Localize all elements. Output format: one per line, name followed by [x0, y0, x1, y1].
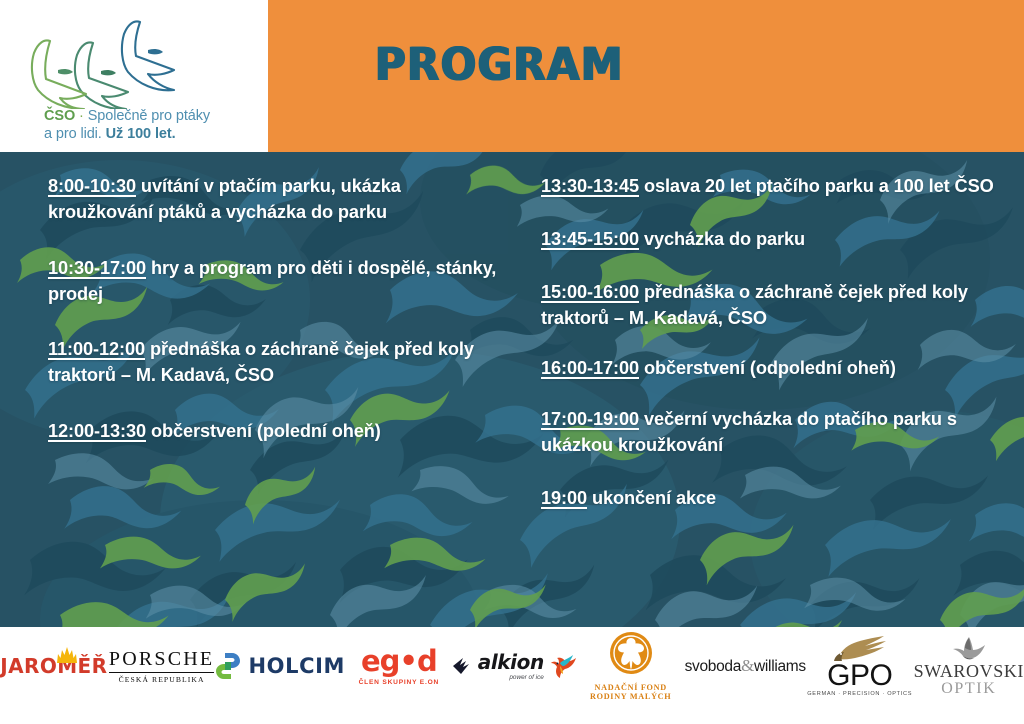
swarovski-hawk-icon: [949, 635, 989, 661]
program-item: 13:30-13:45 oslava 20 let ptačího parku …: [541, 174, 1001, 200]
program-item-time: 17:00-19:00: [541, 409, 639, 429]
gpo-subtitle: GERMAN · PRECISION · OPTICS: [807, 691, 912, 697]
program-item: 12:00-13:30 občerstvení (polední oheň): [48, 419, 508, 445]
cso-logo-tagline-1: Společně pro ptáky: [88, 108, 210, 124]
title-band: PROGRAM: [268, 0, 1024, 152]
sponsor-logo-jaromer: JAROMĚŘ: [0, 627, 108, 705]
program-item: 16:00-17:00 občerstvení (odpolední oheň): [541, 356, 1001, 382]
holcim-name: HOLCIM: [248, 654, 345, 678]
program-item-time: 10:30-17:00: [48, 258, 146, 278]
program-item-desc: vycházka do parku: [639, 229, 805, 249]
jaromer-text-1: JARO: [0, 654, 57, 678]
cso-logo-abbrev: ČSO: [44, 108, 75, 124]
sponsor-logo-egd: eg•d ČLEN SKUPINY E.ON: [345, 627, 453, 705]
program-item-desc: občerstvení (polední oheň): [146, 421, 381, 441]
program-item-time: 12:00-13:30: [48, 421, 146, 441]
program-item-desc: ukončení akce: [587, 488, 716, 508]
egd-name: eg•d: [359, 647, 440, 676]
porsche-wordmark: PORSCHE ČESKÁ REPUBLIKA: [109, 648, 214, 684]
program-item-time: 15:00-16:00: [541, 282, 639, 302]
nadacni-fond-line1: NADAČNÍ FOND: [590, 683, 671, 692]
swarovski-optik: OPTIK: [914, 681, 1024, 698]
program-item: 17:00-19:00 večerní vycházka do ptačího …: [541, 407, 1001, 459]
sponsor-logo-svoboda-williams: svoboda&williams: [685, 627, 806, 705]
program-item-time: 8:00-10:30: [48, 176, 136, 196]
program-item-time: 19:00: [541, 488, 587, 508]
program-item: 13:45-15:00 vycházka do parku: [541, 227, 1001, 253]
sponsor-logo-strip: JAROMĚŘ PORSCHE ČESKÁ REPUBLIKA: [0, 627, 1024, 705]
alkion-arrow-icon: [453, 657, 475, 675]
cso-logo-anniversary: Už 100 let.: [106, 126, 176, 142]
program-item-time: 13:30-13:45: [541, 176, 639, 196]
program-item: 15:00-16:00 přednáška o záchraně čejek p…: [541, 280, 1001, 332]
jaromer-text-3: ĚŘ: [78, 654, 108, 678]
page-title: PROGRAM: [375, 38, 624, 91]
nadacni-fond-lockup: NADAČNÍ FOND RODINY MALÝCH: [590, 631, 671, 701]
jaromer-flame-icon: [56, 647, 78, 667]
program-poster: ČSO · Společně pro ptáky a pro lidi. Už …: [0, 0, 1024, 724]
program-item-time: 13:45-15:00: [541, 229, 639, 249]
program-item: 10:30-17:00 hry a program pro děti i dos…: [48, 256, 508, 308]
alkion-tagline: power of ice: [478, 674, 544, 681]
cso-three-birds-logo-icon: [24, 14, 204, 109]
jaromer-wordmark: JAROMĚŘ: [0, 654, 107, 678]
program-item-time: 16:00-17:00: [541, 358, 639, 378]
egd-subtitle: ČLEN SKUPINY E.ON: [359, 679, 440, 686]
nadacni-fond-mark-icon: [609, 631, 653, 675]
svoboda-ampersand: &: [741, 656, 754, 675]
egd-wordmark: eg•d ČLEN SKUPINY E.ON: [359, 647, 440, 686]
svoboda-text-1: svoboda: [685, 658, 742, 675]
cso-logo-tagline-2: a pro lidi.: [44, 126, 106, 142]
cso-logo-separator: ·: [75, 108, 88, 124]
sponsor-logo-nadacni-fond: NADAČNÍ FOND RODINY MALÝCH: [577, 627, 685, 705]
sponsor-footer: JAROMĚŘ PORSCHE ČESKÁ REPUBLIKA: [0, 627, 1024, 724]
cso-logo-box: ČSO · Společně pro ptáky a pro lidi. Už …: [0, 0, 268, 152]
porsche-name: PORSCHE: [109, 648, 214, 673]
gpo-name: GPO: [807, 661, 912, 690]
holcim-mark-icon: [215, 652, 241, 680]
svoboda-text-2: williams: [754, 658, 806, 675]
alkion-name: alkion: [478, 652, 544, 672]
sponsor-logo-swarovski-optik: SWAROVSKI OPTIK: [914, 627, 1024, 705]
swarovski-name: SWAROVSKI: [914, 662, 1024, 681]
program-item: 11:00-12:00 přednáška o záchraně čejek p…: [48, 337, 508, 389]
program-item-desc: oslava 20 let ptačího parku a 100 let ČS…: [639, 176, 994, 196]
program-item: 19:00 ukončení akce: [541, 486, 1001, 512]
poster-header: ČSO · Společně pro ptáky a pro lidi. Už …: [0, 0, 1024, 152]
nadacni-fond-line2: RODINY MALÝCH: [590, 692, 671, 701]
program-item-time: 11:00-12:00: [48, 339, 145, 359]
porsche-subtitle: ČESKÁ REPUBLIKA: [109, 675, 214, 684]
sponsor-logo-gpo: GPO GERMAN · PRECISION · OPTICS: [806, 627, 914, 705]
sponsor-logo-alkion: alkion power of ice: [453, 627, 577, 705]
program-item-desc: občerstvení (odpolední oheň): [639, 358, 896, 378]
swarovski-optik-lockup: SWAROVSKI OPTIK: [914, 635, 1024, 698]
program-column-right: 13:30-13:45 oslava 20 let ptačího parku …: [541, 152, 1001, 536]
program-schedule: 8:00-10:30 uvítání v ptačím parku, ukázk…: [0, 152, 1024, 627]
program-item: 8:00-10:30 uvítání v ptačím parku, ukázk…: [48, 174, 508, 226]
holcim-lockup: HOLCIM: [215, 652, 345, 680]
sponsor-logo-holcim: HOLCIM: [215, 627, 345, 705]
cso-logo-wordmark: ČSO · Společně pro ptáky a pro lidi. Už …: [44, 108, 274, 143]
gpo-lockup: GPO GERMAN · PRECISION · OPTICS: [807, 635, 912, 697]
alkion-kingfisher-icon: [547, 652, 577, 680]
svoboda-williams-wordmark: svoboda&williams: [685, 656, 806, 676]
alkion-lockup: alkion power of ice: [453, 652, 577, 681]
program-column-left: 8:00-10:30 uvítání v ptačím parku, ukázk…: [48, 152, 508, 469]
sponsor-logo-porsche: PORSCHE ČESKÁ REPUBLIKA: [108, 627, 216, 705]
